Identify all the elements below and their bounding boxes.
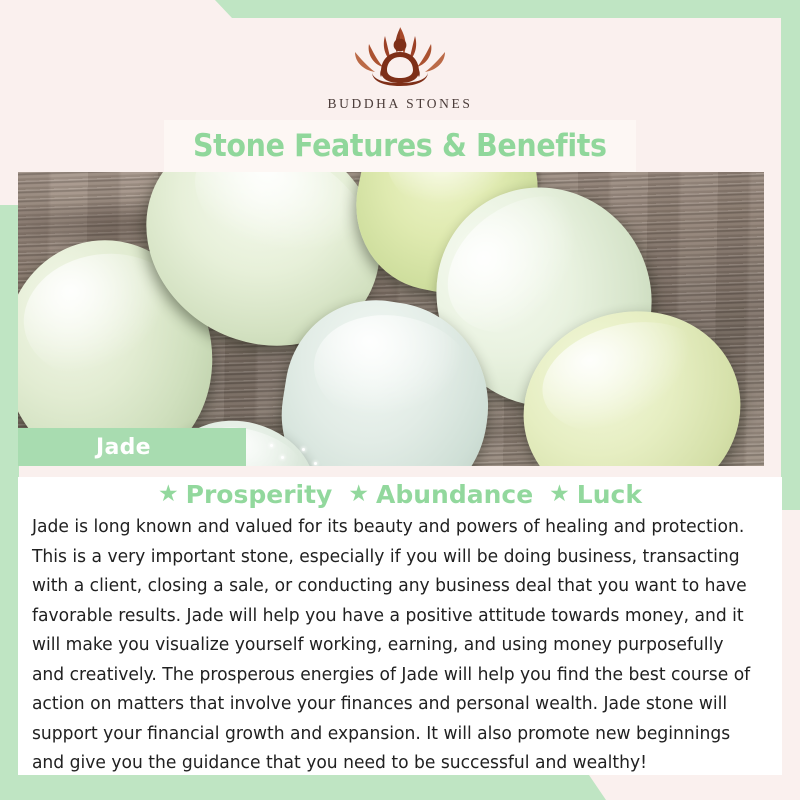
stone-name-badge: Jade (18, 428, 246, 466)
keyword-row: ★ Prosperity ★ Abundance ★ Luck (28, 477, 772, 511)
sparkle (302, 448, 305, 451)
stone-photo (18, 172, 764, 466)
title-band: Stone Features & Benefits (164, 120, 636, 172)
content-card: ★ Prosperity ★ Abundance ★ Luck Jade is … (18, 477, 782, 775)
star-icon: ★ (348, 483, 369, 506)
sparkle (314, 462, 317, 465)
keyword-abundance: ★ Abundance (348, 480, 533, 509)
brand-wordmark: BUDDHA STONES (328, 96, 473, 112)
keyword-label: Prosperity (186, 480, 333, 509)
page-title: Stone Features & Benefits (193, 128, 607, 164)
sparkle (281, 456, 284, 459)
keyword-label: Abundance (376, 480, 533, 509)
star-icon: ★ (549, 483, 570, 506)
sparkle (270, 444, 273, 447)
lotus-meditation-icon (325, 20, 475, 92)
description-paragraph: Jade is long known and valued for its be… (28, 511, 761, 779)
keyword-prosperity: ★ Prosperity (158, 480, 332, 509)
keyword-luck: ★ Luck (549, 480, 642, 509)
brand-logo: BUDDHA STONES (325, 20, 475, 112)
decor-ribbon-bottom (0, 775, 800, 800)
star-icon: ★ (158, 483, 179, 506)
stone-name-label: Jade (18, 435, 151, 460)
decor-ribbon-left (0, 205, 19, 780)
keyword-label: Luck (577, 480, 642, 509)
